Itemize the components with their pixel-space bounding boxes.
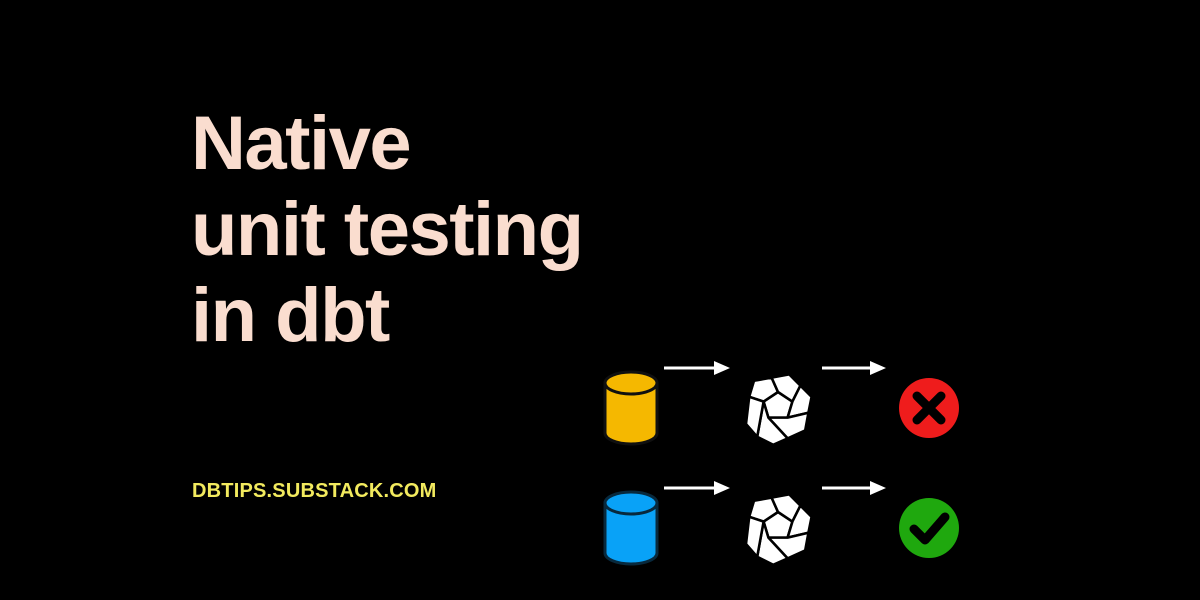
arrow-source-to-model-pass: [662, 478, 730, 578]
dodecahedron-model-icon: [738, 368, 818, 448]
arrow-source-to-model-fail: [662, 358, 730, 458]
title-line-1: Native: [191, 101, 751, 187]
dodecahedron-model-icon: [738, 488, 818, 568]
database-cylinder-icon: [603, 491, 659, 565]
dbt-model-pass: [736, 478, 820, 578]
pipeline-diagram: [600, 358, 980, 578]
circle-x-icon: [898, 377, 960, 439]
arrow-model-to-result-pass: [820, 478, 886, 578]
pipeline-row-fail: [600, 358, 980, 458]
title-line-2: unit testing: [191, 187, 751, 273]
database-cylinder-icon: [603, 371, 659, 445]
publication-url[interactable]: DBTIPS.SUBSTACK.COM: [192, 480, 437, 503]
arrow-right-icon: [820, 478, 886, 498]
arrow-right-icon: [820, 358, 886, 378]
test-result-passed: [894, 478, 964, 578]
circle-check-icon: [898, 497, 960, 559]
source-database-blue: [600, 478, 662, 578]
dbt-model-fail: [736, 358, 820, 458]
test-result-failed: [894, 358, 964, 458]
pipeline-row-pass: [600, 478, 980, 578]
source-database-yellow: [600, 358, 662, 458]
arrow-model-to-result-fail: [820, 358, 886, 458]
arrow-right-icon: [662, 478, 730, 498]
cover-canvas: Native unit testing in dbt DBTIPS.SUBSTA…: [0, 0, 1200, 600]
page-title: Native unit testing in dbt: [191, 101, 751, 359]
arrow-right-icon: [662, 358, 730, 378]
title-line-3: in dbt: [191, 273, 751, 359]
